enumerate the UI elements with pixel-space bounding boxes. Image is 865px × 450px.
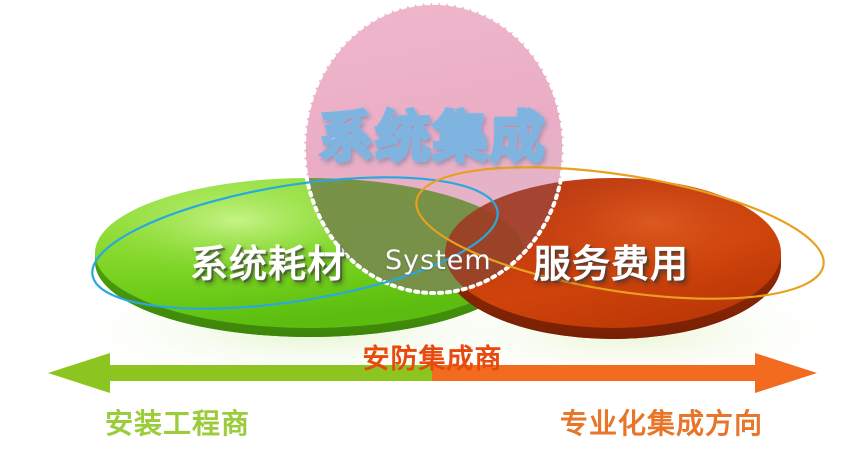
- axis-left-label: 安装工程商: [105, 402, 250, 442]
- axis-center-label: 安防集成商: [0, 337, 865, 376]
- diagram-canvas: 系统集成 系统耗材 服务费用 System 安防集成商 安装工程商 专业化集成方…: [0, 0, 865, 450]
- right-lobe-label: 服务费用: [533, 233, 689, 288]
- axis-right-label: 专业化集成方向: [560, 402, 763, 442]
- top-title-text: 系统集成: [318, 105, 546, 169]
- center-label: System: [385, 245, 492, 276]
- top-title: 系统集成: [0, 92, 865, 172]
- left-lobe-label: 系统耗材: [190, 233, 346, 288]
- venn-shapes-layer: [0, 0, 865, 450]
